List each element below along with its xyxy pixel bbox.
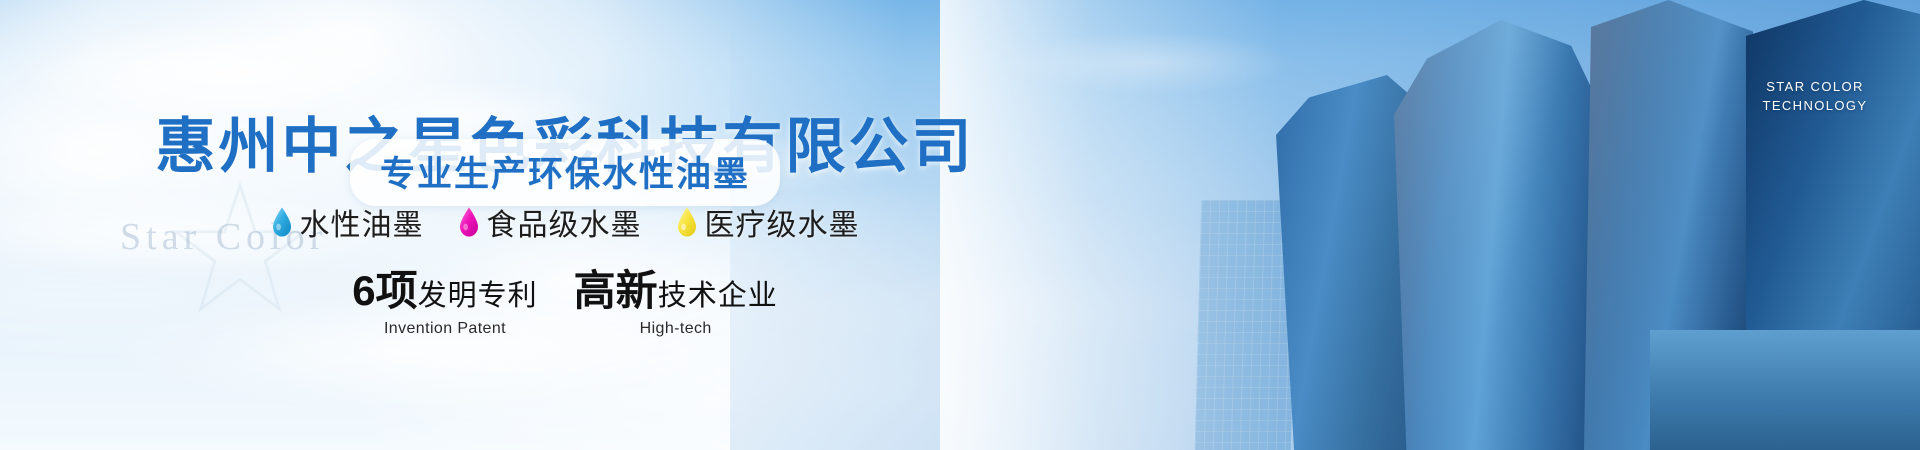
badge-invention-patent: 6项发明专利 Invention Patent	[352, 270, 537, 338]
feature-item-food-grade-ink: 食品级水墨	[458, 200, 642, 244]
badge-secondary-text: 发明专利	[418, 280, 538, 312]
building-c-highlight	[1394, 20, 1600, 450]
badge-highlight-text: 6项	[352, 267, 417, 314]
feature-label: 水性油墨	[300, 200, 424, 244]
feature-list: 水性油墨 食品级水墨	[0, 200, 1130, 244]
badge-secondary-text: 技术企业	[658, 280, 778, 312]
badge-english-caption: Invention Patent	[352, 320, 537, 338]
subtitle-pill: 专业生产环保水性油墨	[350, 139, 780, 206]
badge-highlight-text: 高新	[574, 267, 658, 314]
building-foreground-slab	[1650, 330, 1920, 450]
star-color-technology-logo-text: STAR COLOR TECHNOLOGY	[1752, 78, 1878, 116]
badge-high-tech-enterprise: 高新技术企业 High-tech	[574, 270, 778, 338]
water-drop-icon	[271, 207, 293, 237]
banner-content: 惠州中之星色彩科技有限公司 专业生产环保水性油墨 水性油墨	[0, 0, 1130, 450]
skyscraper-illustration	[1180, 0, 1920, 450]
feature-item-medical-grade-ink: 医疗级水墨	[676, 200, 860, 244]
building-c	[1394, 20, 1600, 450]
promo-banner: Star Color STAR COLOR TECHNOLOGY 惠州中之星色彩…	[0, 0, 1920, 450]
feature-item-water-based-ink: 水性油墨	[271, 200, 424, 244]
credential-badges: 6项发明专利 Invention Patent 高新技术企业 High-tech	[0, 270, 1130, 338]
water-drop-icon	[458, 207, 480, 237]
water-drop-icon	[676, 207, 698, 237]
feature-label: 食品级水墨	[487, 200, 642, 244]
feature-label: 医疗级水墨	[705, 200, 860, 244]
badge-chinese-line: 6项发明专利	[352, 270, 537, 312]
badge-english-caption: High-tech	[574, 320, 778, 338]
badge-chinese-line: 高新技术企业	[574, 270, 778, 312]
